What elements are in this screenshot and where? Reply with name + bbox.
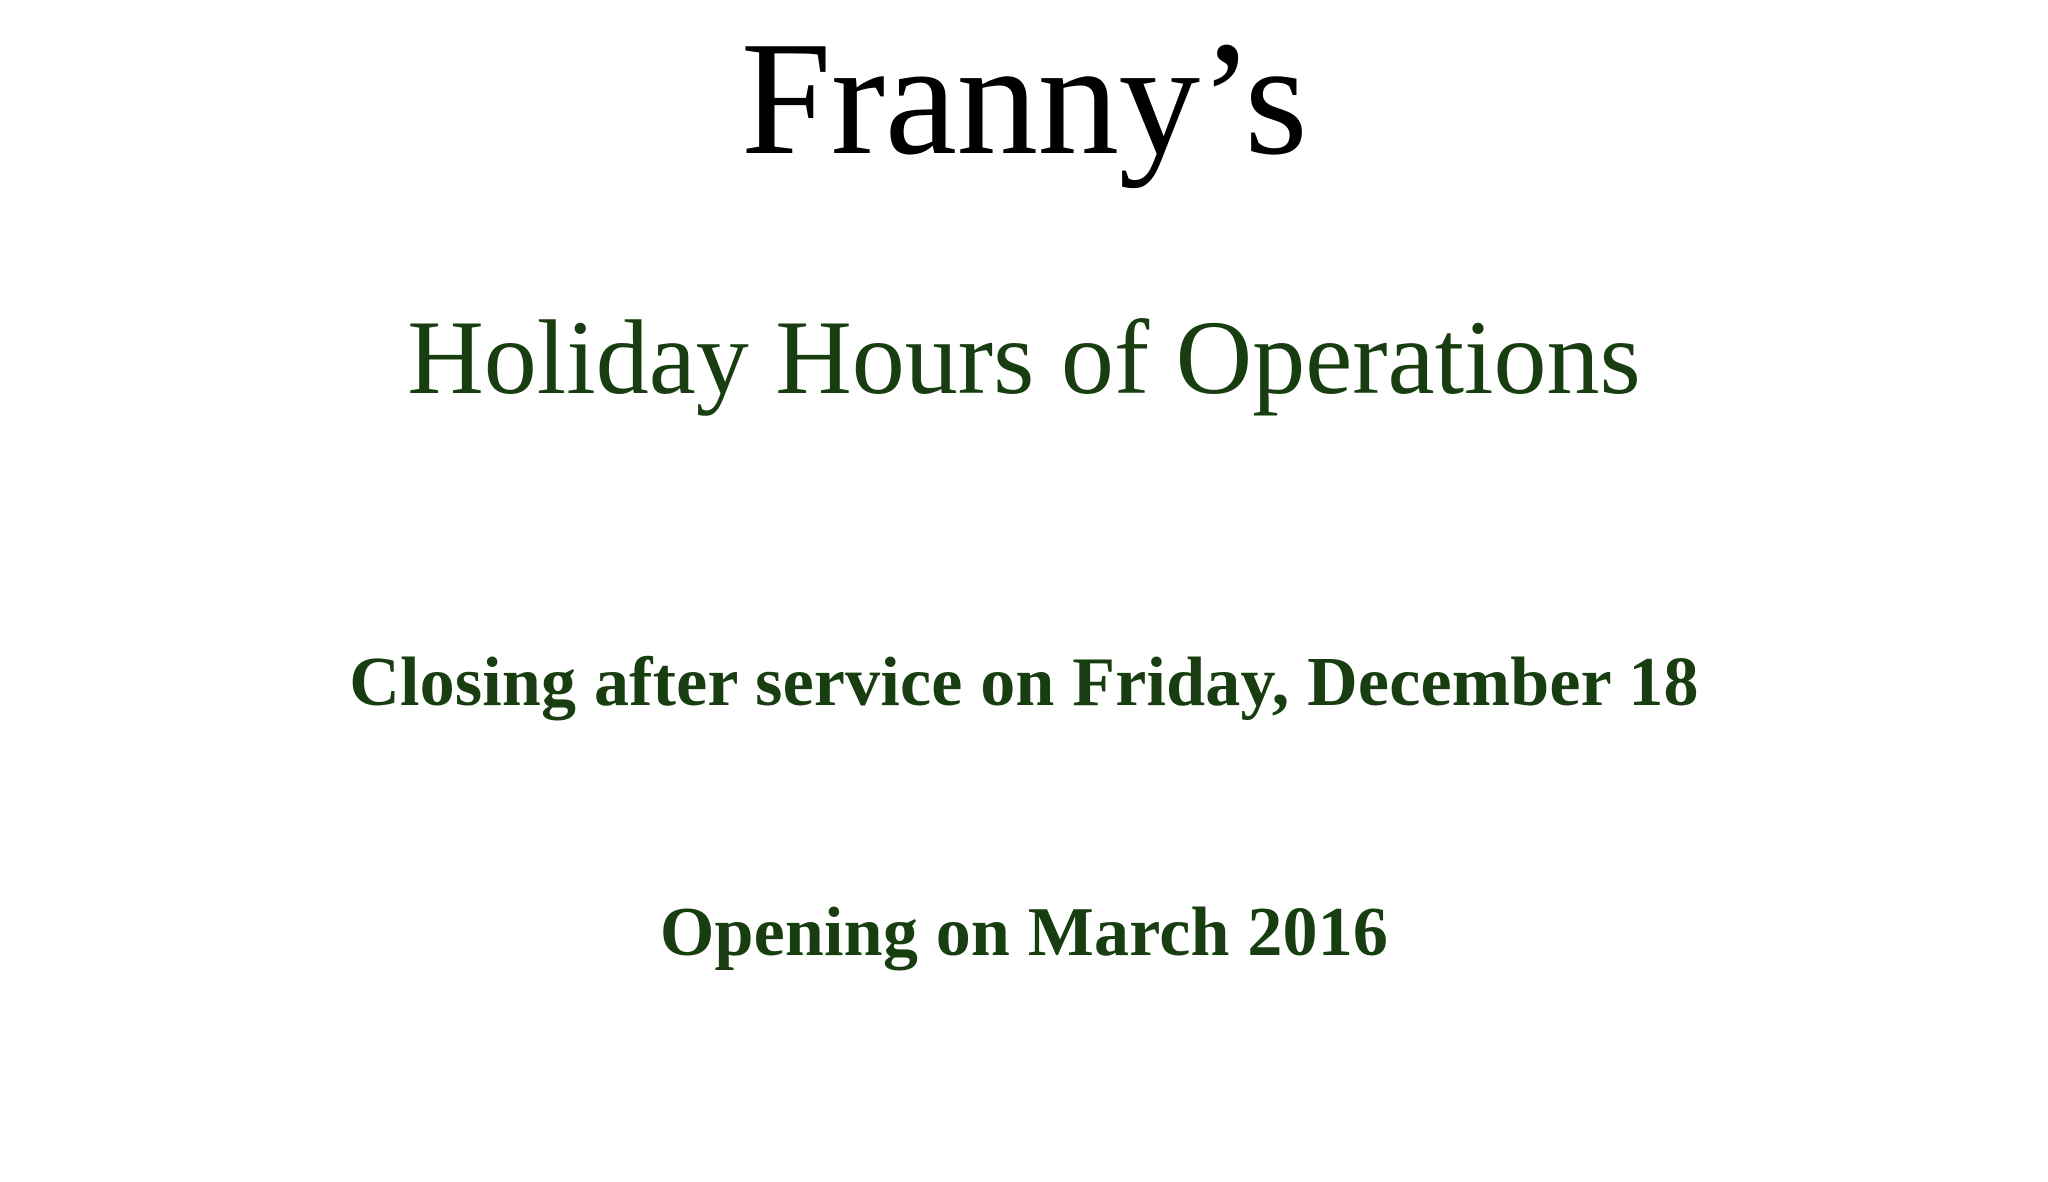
closing-notice: Closing after service on Friday, Decembe… [0, 648, 2048, 718]
business-name-title: Franny’s [0, 18, 2048, 181]
poster-subtitle: Holiday Hours of Operations [0, 305, 2048, 411]
holiday-hours-poster: Franny’s Holiday Hours of Operations Clo… [0, 0, 2048, 1182]
opening-notice: Opening on March 2016 [0, 898, 2048, 968]
